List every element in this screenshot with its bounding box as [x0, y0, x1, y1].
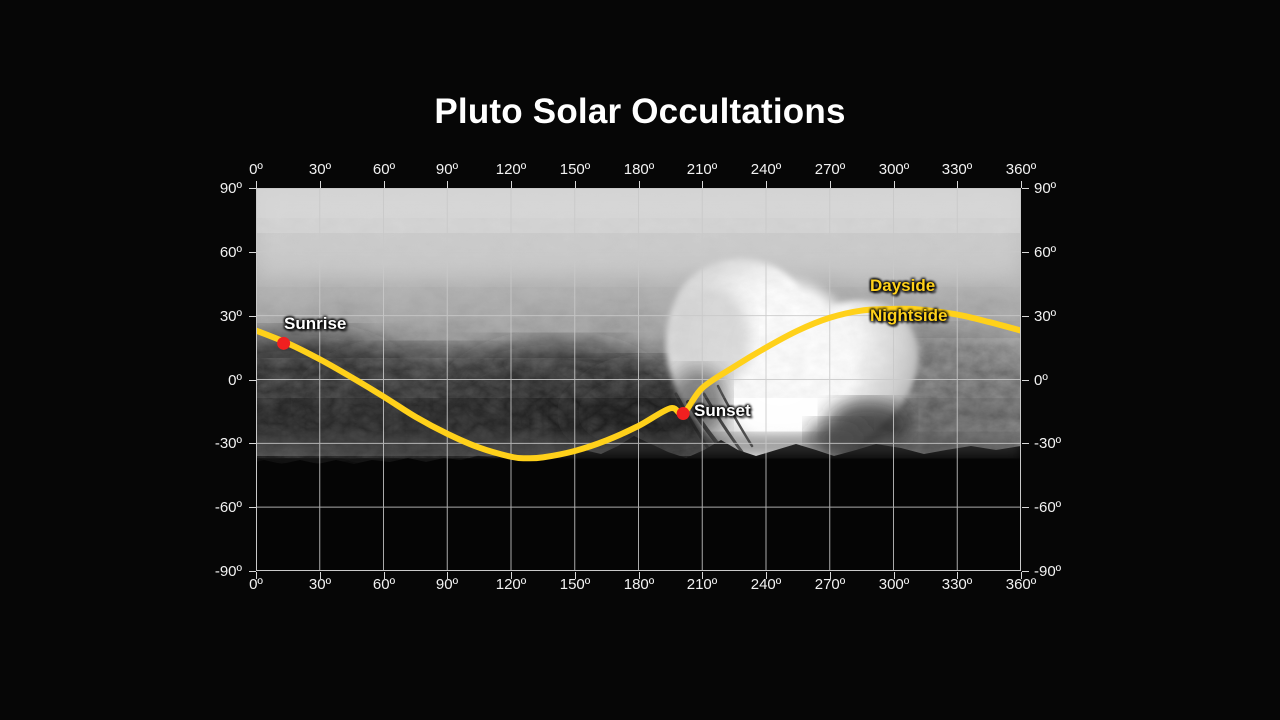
terminator-curve — [256, 309, 1021, 459]
y-tick-right-5 — [1022, 507, 1029, 508]
sunrise-marker — [277, 337, 290, 350]
x-tick-top-9 — [830, 181, 831, 188]
x-tick-top-3 — [447, 181, 448, 188]
x-tick-top-2 — [384, 181, 385, 188]
x-label-bottom-1: 30º — [290, 576, 350, 593]
x-label-top-5: 150º — [545, 161, 605, 178]
x-label-bottom-11: 330º — [927, 576, 987, 593]
y-tick-left-4 — [249, 443, 256, 444]
x-label-top-10: 300º — [864, 161, 924, 178]
x-label-top-7: 210º — [672, 161, 732, 178]
x-label-top-0: 0º — [226, 161, 286, 178]
x-label-top-9: 270º — [800, 161, 860, 178]
y-label-left-3: 0º — [182, 373, 242, 388]
y-label-right-1: 60º — [1034, 245, 1094, 260]
x-label-top-4: 120º — [481, 161, 541, 178]
y-label-right-6: -90º — [1034, 564, 1094, 579]
x-label-top-8: 240º — [736, 161, 796, 178]
sunset-marker — [677, 407, 690, 420]
x-tick-top-12 — [1021, 181, 1022, 188]
y-tick-left-6 — [249, 571, 256, 572]
x-label-bottom-6: 180º — [609, 576, 669, 593]
y-tick-right-1 — [1022, 252, 1029, 253]
slide-root: Pluto Solar Occultations — [0, 0, 1280, 720]
y-tick-right-2 — [1022, 316, 1029, 317]
y-tick-left-0 — [249, 188, 256, 189]
y-tick-left-2 — [249, 316, 256, 317]
x-label-bottom-7: 210º — [672, 576, 732, 593]
x-label-bottom-5: 150º — [545, 576, 605, 593]
x-label-bottom-10: 300º — [864, 576, 924, 593]
x-label-top-12: 360º — [991, 161, 1051, 178]
x-tick-top-11 — [957, 181, 958, 188]
y-tick-right-3 — [1022, 380, 1029, 381]
plot-area: Sunrise Sunset Dayside Nightside — [256, 188, 1021, 571]
occultation-plot: Sunrise Sunset Dayside Nightside — [256, 188, 1021, 571]
x-tick-top-8 — [766, 181, 767, 188]
x-tick-top-4 — [511, 181, 512, 188]
x-label-bottom-2: 60º — [354, 576, 414, 593]
x-label-top-11: 330º — [927, 161, 987, 178]
y-label-left-4: -30º — [182, 436, 242, 451]
y-tick-left-5 — [249, 507, 256, 508]
x-label-bottom-4: 120º — [481, 576, 541, 593]
x-tick-top-5 — [575, 181, 576, 188]
x-label-bottom-9: 270º — [800, 576, 860, 593]
y-label-right-3: 0º — [1034, 373, 1094, 388]
x-label-top-2: 60º — [354, 161, 414, 178]
y-label-left-2: 30º — [182, 309, 242, 324]
x-tick-top-1 — [320, 181, 321, 188]
x-label-top-1: 30º — [290, 161, 350, 178]
x-label-top-6: 180º — [609, 161, 669, 178]
x-label-bottom-3: 90º — [417, 576, 477, 593]
y-label-left-0: 90º — [182, 181, 242, 196]
y-label-left-5: -60º — [182, 500, 242, 515]
x-tick-top-0 — [256, 181, 257, 188]
y-tick-left-1 — [249, 252, 256, 253]
x-tick-top-7 — [702, 181, 703, 188]
terminator-curve-layer — [256, 188, 1021, 571]
y-label-left-6: -90º — [182, 564, 242, 579]
x-label-top-3: 90º — [417, 161, 477, 178]
y-label-right-2: 30º — [1034, 309, 1094, 324]
x-label-bottom-8: 240º — [736, 576, 796, 593]
y-label-left-1: 60º — [182, 245, 242, 260]
x-tick-top-6 — [639, 181, 640, 188]
x-tick-top-10 — [894, 181, 895, 188]
page-title: Pluto Solar Occultations — [0, 92, 1280, 132]
y-tick-right-4 — [1022, 443, 1029, 444]
y-label-right-0: 90º — [1034, 181, 1094, 196]
y-label-right-4: -30º — [1034, 436, 1094, 451]
y-tick-left-3 — [249, 380, 256, 381]
y-tick-right-0 — [1022, 188, 1029, 189]
y-tick-right-6 — [1022, 571, 1029, 572]
y-label-right-5: -60º — [1034, 500, 1094, 515]
